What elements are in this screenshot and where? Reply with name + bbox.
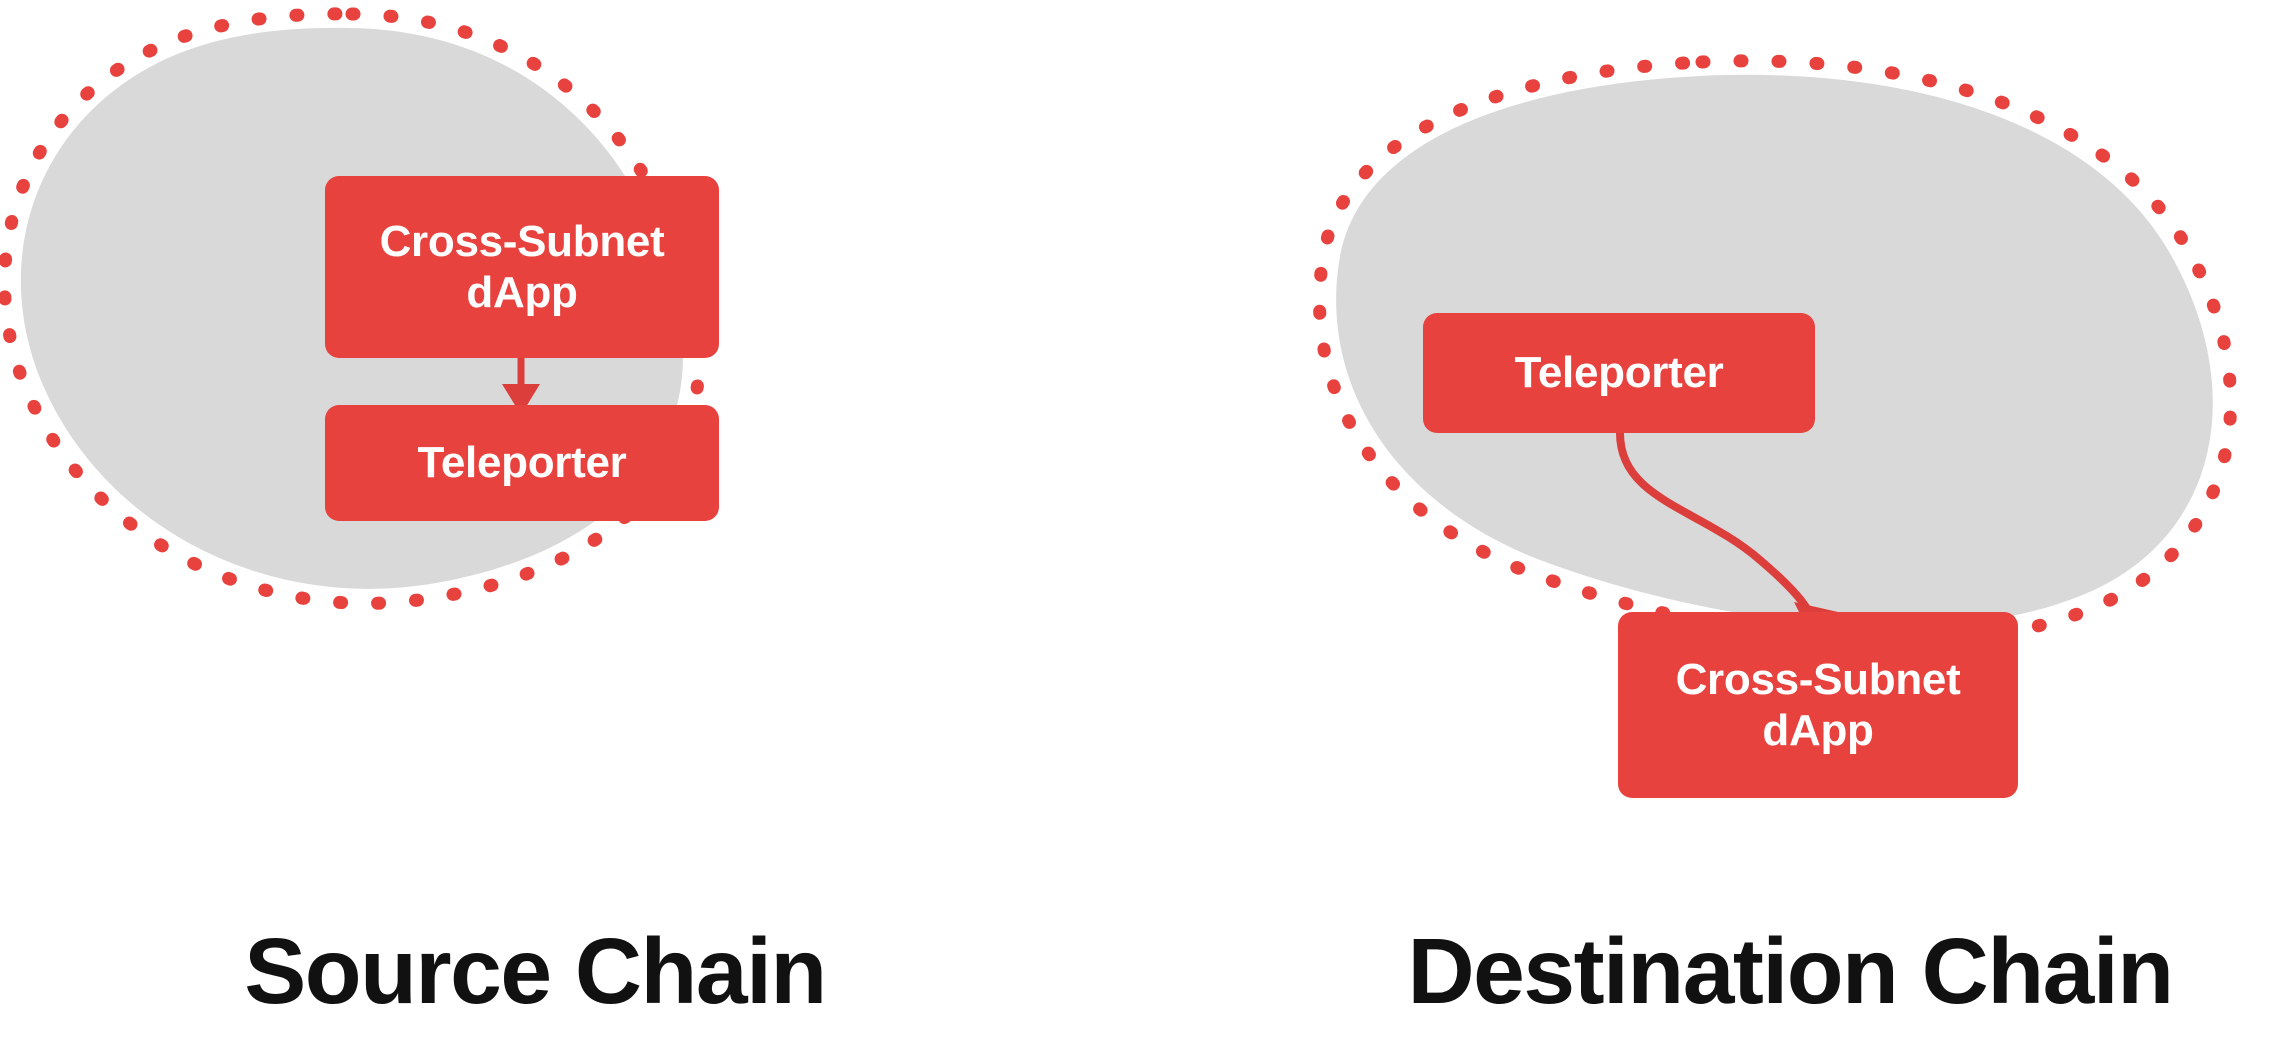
diagram-canvas: Cross-SubnetdApp Teleporter Source Chain… bbox=[0, 0, 2292, 1054]
destination-chain-label: Destination Chain bbox=[1330, 925, 2250, 1018]
node-destination-cross-subnet-dapp[interactable]: Cross-SubnetdApp bbox=[1618, 612, 2018, 798]
destination-chain-blob bbox=[0, 0, 2292, 1054]
node-destination-teleporter[interactable]: Teleporter bbox=[1423, 313, 1815, 433]
node-label: Cross-SubnetdApp bbox=[1676, 654, 1961, 756]
node-label: Teleporter bbox=[1515, 347, 1724, 398]
